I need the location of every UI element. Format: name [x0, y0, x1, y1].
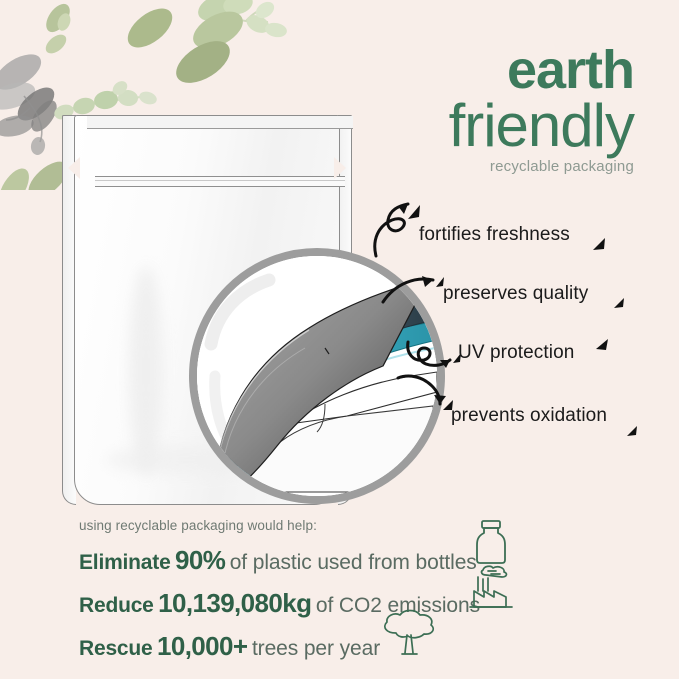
- spark-mark-icon: [612, 296, 626, 310]
- stat-row-rescue: Rescue 10,000+ trees per year: [79, 631, 619, 662]
- statistics-block: using recyclable packaging would help: E…: [79, 518, 619, 662]
- feature-label-fortifies-freshness: fortifies freshness: [419, 224, 570, 246]
- headline-line-2: friendly: [449, 96, 634, 156]
- spark-mark-icon: [406, 203, 422, 221]
- spark-mark-icon: [594, 337, 610, 353]
- stat-row-reduce: Reduce 10,139,080kg of CO2 emissions: [79, 588, 619, 619]
- spark-mark-icon: [591, 236, 607, 252]
- feature-label-preserves-quality: preserves quality: [443, 283, 588, 305]
- feature-label-prevents-oxidation: prevents oxidation: [451, 405, 607, 427]
- stat-row-eliminate: Eliminate 90% of plastic used from bottl…: [79, 545, 619, 576]
- stat-rest: trees per year: [252, 637, 380, 660]
- pouch-zipper-seal: [95, 176, 345, 187]
- spark-mark-icon: [625, 424, 639, 438]
- stat-number: 90%: [175, 545, 225, 575]
- headline-line-1: earth: [449, 45, 634, 96]
- pouch-highlight-left: [129, 266, 163, 476]
- headline-subtitle: recyclable packaging: [449, 158, 634, 175]
- stat-verb: Eliminate: [79, 551, 171, 574]
- stat-number: 10,139,080kg: [158, 588, 311, 618]
- headline-block: earth friendly recyclable packaging: [449, 45, 634, 175]
- stat-rest: of plastic used from bottles: [230, 551, 477, 574]
- factory-icon: [466, 563, 518, 611]
- stat-number: 10,000+: [157, 631, 248, 661]
- poster-canvas: earth friendly recyclable packaging fort…: [0, 0, 679, 679]
- stat-verb: Reduce: [79, 594, 154, 617]
- stat-verb: Rescue: [79, 637, 153, 660]
- pouch-top-lip: [87, 116, 353, 129]
- feature-label-uv-protection: UV protection: [458, 342, 574, 364]
- bottle-icon: [471, 518, 511, 566]
- tree-icon: [376, 607, 442, 661]
- statistics-intro: using recyclable packaging would help:: [79, 518, 619, 533]
